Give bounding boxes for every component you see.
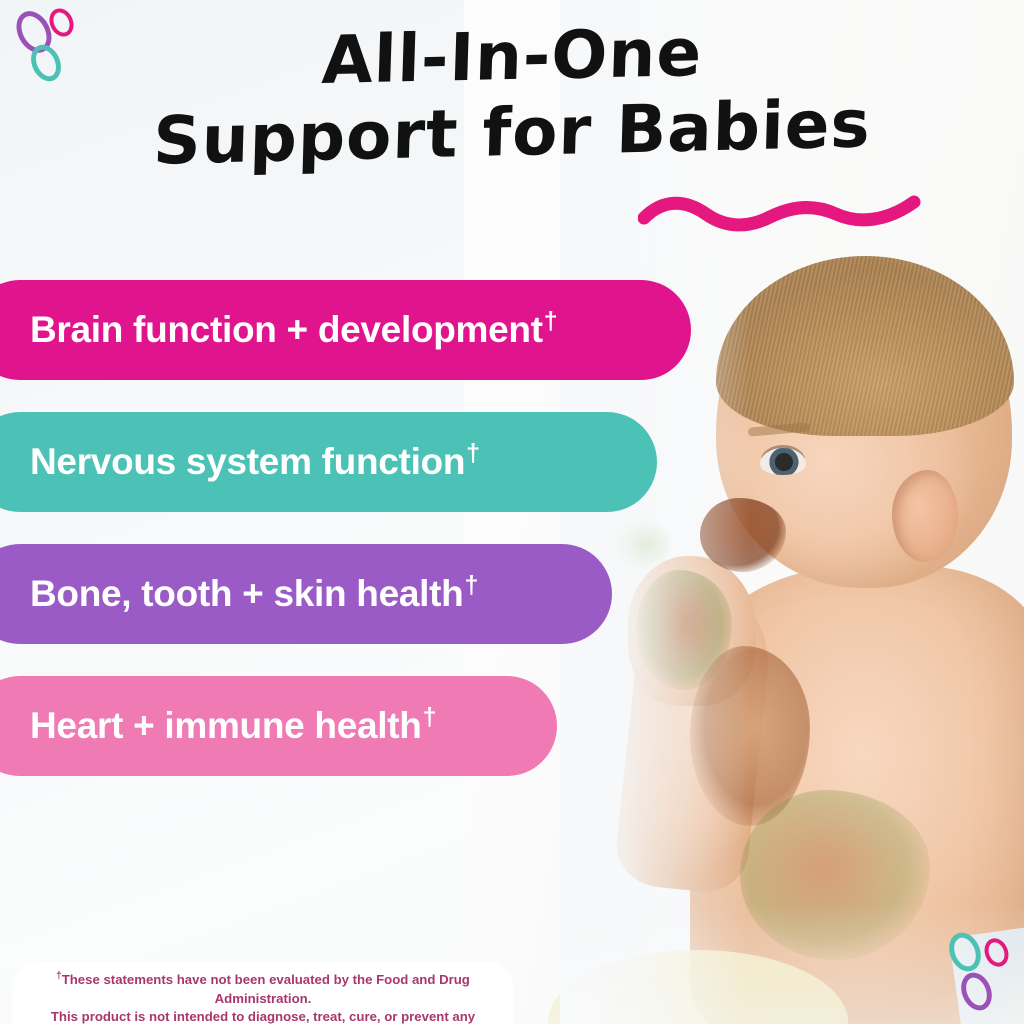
baby-eye [760,448,806,475]
promo-graphic: All-In-One Support for Babies Brain func… [0,0,1024,1024]
disclaimer-line-1: †These statements have not been evaluate… [26,971,500,1008]
dagger-symbol: † [466,439,480,467]
benefit-pill-2: Nervous system function† [0,412,657,512]
squiggle-underline-icon [638,192,926,232]
benefit-pill-label: Heart + immune health† [30,705,436,747]
benefit-pill-label: Nervous system function† [30,441,480,483]
benefit-pill-label: Brain function + development† [30,309,557,351]
baby-photo [0,0,1024,1024]
dagger-symbol: † [464,571,478,599]
benefit-pill-3: Bone, tooth + skin health† [0,544,612,644]
dagger-symbol: † [544,307,558,335]
baby-ear [892,470,958,562]
dagger-symbol: † [423,703,437,731]
disclaimer-box: †These statements have not been evaluate… [12,962,514,1024]
disclaimer-line-2: This product is not intended to diagnose… [26,1008,500,1024]
benefit-pill-4: Heart + immune health† [0,676,557,776]
photo-left-fade [560,0,750,1024]
benefit-pill-label: Bone, tooth + skin health† [30,573,478,615]
disclaimer-text-1: These statements have not been evaluated… [62,972,470,1006]
benefit-pill-1: Brain function + development† [0,280,691,380]
